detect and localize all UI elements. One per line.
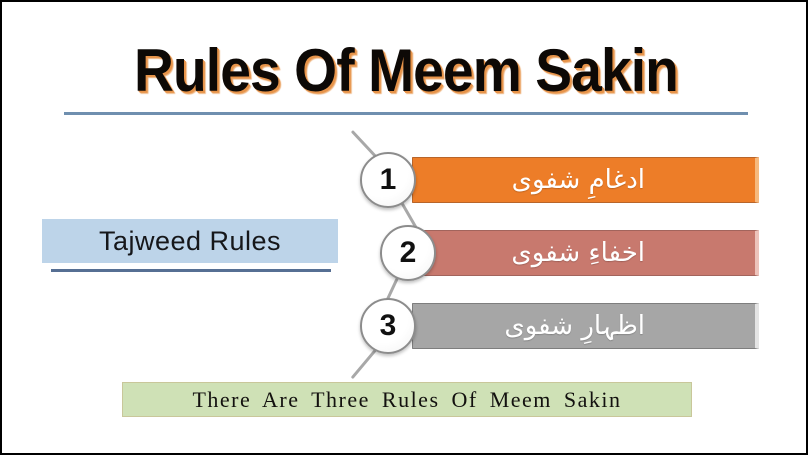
rule-bar-2: اخفاءِ شفوی: [412, 230, 759, 276]
rule-label-1: ادغامِ شفوی: [512, 167, 645, 193]
tajweed-rules-box: Tajweed Rules: [42, 219, 338, 263]
title-underline-divider: [64, 112, 748, 115]
rule-label-3: اظہارِ شفوی: [504, 313, 645, 339]
rule-number-circle-2: 2: [380, 225, 436, 281]
rule-number-2: 2: [400, 238, 417, 268]
tajweed-rules-label: Tajweed Rules: [99, 226, 281, 257]
rule-number-circle-1: 1: [360, 152, 416, 208]
summary-text: There Are Three Rules Of Meem Sakin: [192, 387, 621, 413]
slide-canvas: Rules Of Meem Sakin Tajweed Rules ادغامِ…: [0, 0, 808, 455]
rule-bar-3: اظہارِ شفوی: [412, 303, 759, 349]
rule-number-circle-3: 3: [360, 298, 416, 354]
summary-box: There Are Three Rules Of Meem Sakin: [122, 382, 692, 417]
rule-number-3: 3: [380, 311, 397, 341]
rule-number-1: 1: [380, 165, 397, 195]
rule-label-2: اخفاءِ شفوی: [511, 240, 645, 266]
rule-bar-1: ادغامِ شفوی: [412, 157, 759, 203]
page-title: Rules Of Meem Sakin: [34, 36, 777, 105]
tajweed-rules-underline: [51, 269, 331, 272]
